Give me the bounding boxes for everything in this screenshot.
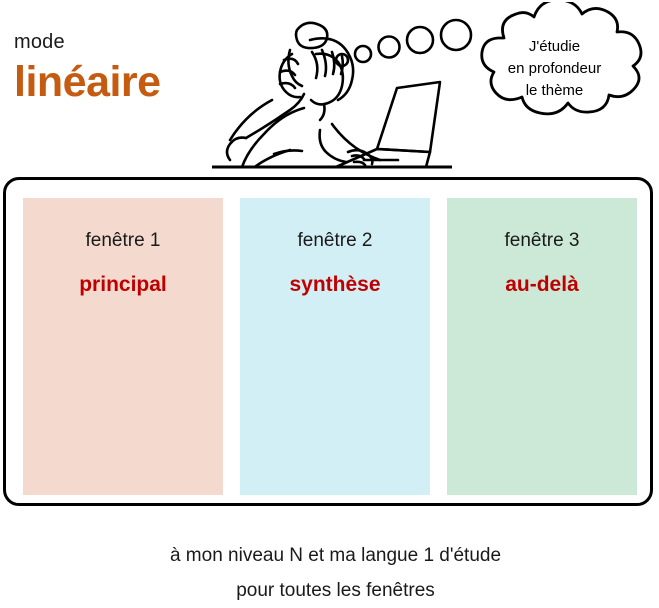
mode-name: linéaire: [14, 61, 161, 104]
thought-line-2: en profondeur: [508, 58, 601, 80]
page-title: mode linéaire: [14, 32, 161, 104]
window-column-1-key: principal: [23, 273, 223, 297]
window-column-2-key: synthèse: [240, 273, 430, 297]
window-column-1-header: fenêtre 1: [23, 230, 223, 252]
footnote-line-1: à mon niveau N et ma langue 1 d'étude: [6, 538, 659, 573]
window-column-1[interactable]: fenêtre 1 principal: [23, 198, 223, 495]
windows-panel: fenêtre 1 principal fenêtre 2 synthèse f…: [3, 177, 653, 506]
window-column-3-header: fenêtre 3: [447, 230, 637, 252]
windows-columns: fenêtre 1 principal fenêtre 2 synthèse f…: [23, 198, 637, 495]
window-column-3-key: au-delà: [447, 273, 637, 297]
thought-line-3: le thème: [526, 80, 584, 102]
footnote-line-2: pour toutes les fenêtres: [6, 573, 659, 608]
window-column-2-header: fenêtre 2: [240, 230, 430, 252]
thought-cloud-icon: J'étudie en profondeur le thème: [452, 2, 657, 132]
window-column-3[interactable]: fenêtre 3 au-delà: [447, 198, 637, 495]
thought-line-1: J'étudie: [529, 36, 580, 58]
header: mode linéaire: [0, 0, 659, 177]
window-column-2[interactable]: fenêtre 2 synthèse: [240, 198, 430, 495]
panel-footnote: à mon niveau N et ma langue 1 d'étude po…: [6, 538, 659, 608]
thought-bubble-text: J'étudie en profondeur le thème: [452, 2, 657, 132]
mode-label: mode: [14, 32, 161, 52]
